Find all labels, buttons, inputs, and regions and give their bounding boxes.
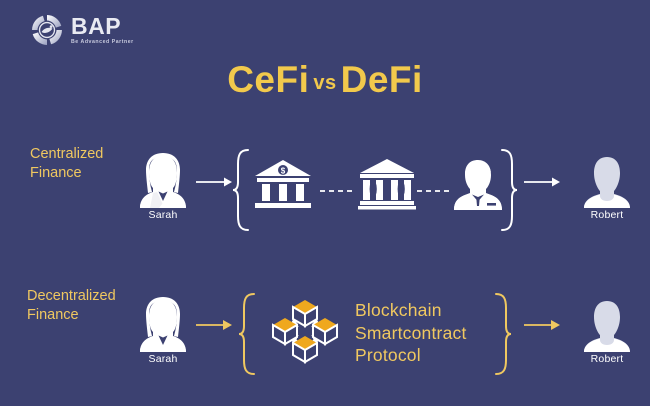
row-label-centralized: Centralized Finance: [30, 145, 103, 183]
row-label-decentralized: Decentralized Finance: [27, 287, 116, 325]
person-name-label: Sarah: [132, 353, 194, 365]
title-defi: DeFi: [341, 59, 423, 100]
brand-logo: BAP Be Advanced Partner: [30, 13, 134, 47]
classical-bank-icon: [358, 158, 416, 210]
title-cefi: CeFi: [227, 59, 309, 100]
arrow-banks-to-robert: [524, 176, 560, 188]
logo-tagline: Be Advanced Partner: [71, 40, 134, 45]
male-avatar-icon: [581, 299, 633, 352]
arrow-sarah-to-banks: [196, 176, 232, 188]
female-avatar-icon: [137, 296, 189, 352]
bracket-open-defi: [238, 292, 256, 376]
bracket-open-cefi: [232, 148, 250, 232]
logo-wordmark: BAP: [71, 15, 134, 38]
infographic-canvas: BAP Be Advanced Partner CeFivsDeFi Centr…: [0, 0, 650, 406]
blockchain-cubes-icon: [272, 298, 338, 364]
arrow-blockchain-to-robert: [524, 319, 560, 331]
logo-text-block: BAP Be Advanced Partner: [71, 15, 134, 45]
banker-person-icon: [452, 158, 504, 210]
bracket-close-defi: [494, 292, 512, 376]
svg-text:$: $: [281, 167, 286, 176]
dashed-connector-one: [320, 189, 356, 193]
title-vs: vs: [309, 72, 340, 94]
person-name-label: Sarah: [132, 209, 194, 221]
person-robert-cefi: Robert: [576, 155, 638, 221]
dashed-connector-two: [417, 189, 451, 193]
person-name-label: Robert: [576, 353, 638, 365]
circular-swirl-icon: [30, 13, 64, 47]
defi-description-text: Blockchain Smartcontract Protocol: [355, 299, 467, 367]
page-title: CeFivsDeFi: [0, 59, 650, 101]
person-name-label: Robert: [576, 209, 638, 221]
cube-top: [293, 300, 317, 326]
arrow-sarah-to-blockchain: [196, 319, 232, 331]
male-avatar-icon: [581, 155, 633, 208]
bracket-close-cefi: [500, 148, 518, 232]
female-avatar-icon: [137, 152, 189, 208]
bank-dollar-icon: $: [253, 158, 313, 210]
person-sarah-cefi: Sarah: [132, 152, 194, 221]
person-robert-defi: Robert: [576, 299, 638, 365]
person-sarah-defi: Sarah: [132, 296, 194, 365]
